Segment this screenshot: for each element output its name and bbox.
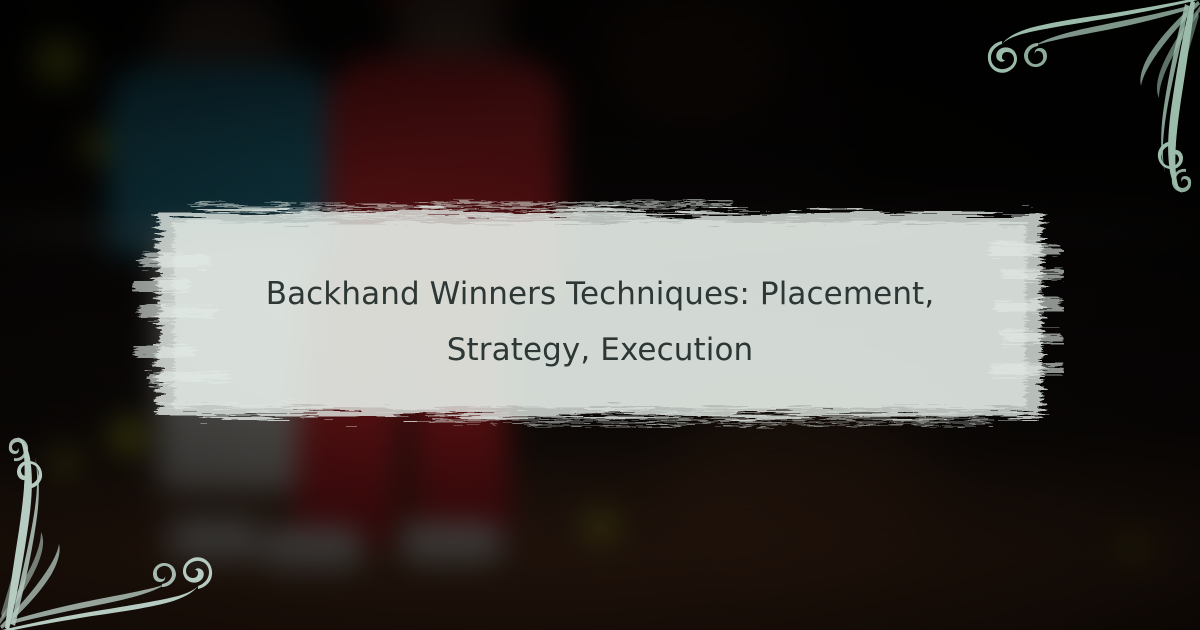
- page-title: Backhand Winners Techniques: Placement, …: [190, 266, 1010, 378]
- social-card: Backhand Winners Techniques: Placement, …: [0, 0, 1200, 630]
- corner-flourish-top-right-icon: [986, 0, 1200, 196]
- page-title-line-1: Backhand Winners Techniques: Placement,: [190, 266, 1010, 322]
- corner-flourish-bottom-left-icon: [0, 434, 214, 630]
- page-title-line-2: Strategy, Execution: [190, 322, 1010, 378]
